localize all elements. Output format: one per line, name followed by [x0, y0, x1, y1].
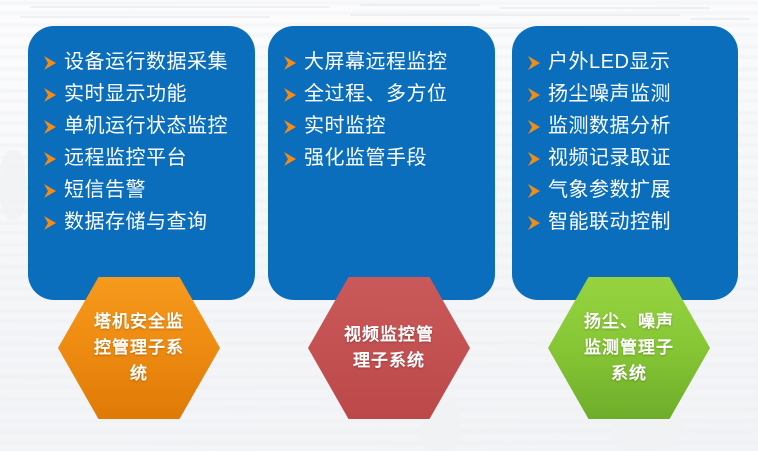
arrow-right-icon	[526, 213, 542, 233]
list-item: 实时显示功能	[42, 84, 245, 105]
list-item-label: 户外LED显示	[548, 52, 670, 73]
feature-panel-dust-noise: 户外LED显示 扬尘噪声监测 监测数据分析 视频记录取证	[512, 26, 738, 300]
background-blotch	[0, 150, 26, 220]
list-item: 扬尘噪声监测	[526, 84, 728, 105]
list-item-label: 实时监控	[304, 116, 386, 137]
list-item: 全过程、多方位	[282, 84, 485, 105]
arrow-right-icon	[526, 53, 542, 73]
list-item: 远程监控平台	[42, 148, 245, 169]
list-item-label: 单机运行状态监控	[64, 116, 228, 137]
list-item-label: 视频记录取证	[548, 148, 671, 169]
list-item-label: 智能联动控制	[548, 212, 671, 233]
arrow-right-icon	[42, 181, 58, 201]
feature-list: 大屏幕远程监控 全过程、多方位 实时监控 强化监管手段	[282, 52, 485, 169]
arrow-right-icon	[282, 149, 298, 169]
feature-list: 设备运行数据采集 实时显示功能 单机运行状态监控 远程监控平台	[42, 52, 245, 233]
subsystem-badge-label: 视频监控管理子系统	[339, 322, 439, 374]
arrow-right-icon	[282, 85, 298, 105]
arrow-right-icon	[282, 117, 298, 137]
arrow-right-icon	[42, 85, 58, 105]
arrow-right-icon	[526, 117, 542, 137]
list-item: 单机运行状态监控	[42, 116, 245, 137]
list-item-label: 数据存储与查询	[64, 212, 208, 233]
list-item: 气象参数扩展	[526, 180, 728, 201]
list-item-label: 扬尘噪声监测	[548, 84, 671, 105]
arrow-right-icon	[526, 181, 542, 201]
feature-panel-tower-crane: 设备运行数据采集 实时显示功能 单机运行状态监控 远程监控平台	[28, 26, 255, 300]
feature-list: 户外LED显示 扬尘噪声监测 监测数据分析 视频记录取证	[526, 52, 728, 233]
arrow-right-icon	[282, 53, 298, 73]
arrow-right-icon	[42, 117, 58, 137]
list-item: 短信告警	[42, 180, 245, 201]
list-item-label: 大屏幕远程监控	[304, 52, 448, 73]
list-item: 视频记录取证	[526, 148, 728, 169]
list-item-label: 气象参数扩展	[548, 180, 671, 201]
list-item: 户外LED显示	[526, 52, 728, 73]
arrow-right-icon	[526, 149, 542, 169]
list-item: 智能联动控制	[526, 212, 728, 233]
list-item-label: 强化监管手段	[304, 148, 427, 169]
feature-panel-video-monitoring: 大屏幕远程监控 全过程、多方位 实时监控 强化监管手段	[268, 26, 495, 300]
list-item: 监测数据分析	[526, 116, 728, 137]
list-item: 实时监控	[282, 116, 485, 137]
list-item-label: 实时显示功能	[64, 84, 187, 105]
arrow-right-icon	[42, 213, 58, 233]
slide-canvas: 设备运行数据采集 实时显示功能 单机运行状态监控 远程监控平台	[0, 0, 758, 451]
list-item-label: 全过程、多方位	[304, 84, 448, 105]
list-item: 强化监管手段	[282, 148, 485, 169]
arrow-right-icon	[42, 149, 58, 169]
list-item: 大屏幕远程监控	[282, 52, 485, 73]
list-item-label: 监测数据分析	[548, 116, 671, 137]
subsystem-badge-label: 塔机安全监控管理子系统	[89, 309, 189, 387]
list-item-label: 短信告警	[64, 180, 146, 201]
arrow-right-icon	[526, 85, 542, 105]
list-item: 设备运行数据采集	[42, 52, 245, 73]
subsystem-badge-label: 扬尘、噪声监测管理子系统	[579, 309, 679, 387]
arrow-right-icon	[42, 53, 58, 73]
list-item-label: 设备运行数据采集	[64, 52, 228, 73]
list-item-label: 远程监控平台	[64, 148, 187, 169]
list-item: 数据存储与查询	[42, 212, 245, 233]
